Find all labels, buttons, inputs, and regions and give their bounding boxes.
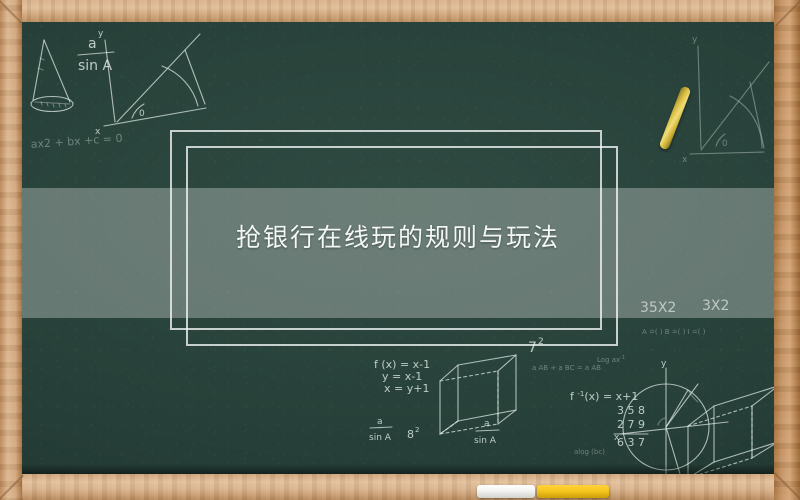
doodle-function-lines-bottom-left: f (x) = x-1 y = x-1 x = y+1 <box>374 358 430 395</box>
fraction-numerator-a: a <box>88 36 97 52</box>
doodle-matrix-smudge: A =( ) B =( ) I =( ) <box>642 328 706 336</box>
angle-label-zero-top-left: 0 <box>139 109 145 119</box>
page-title: 抢银行在线玩的规则与玩法 <box>22 218 774 254</box>
doodle-digit-grid: 3 5 8 2 7 9 6 3 7 <box>614 404 648 449</box>
log-label: Log ax-1 <box>597 355 625 364</box>
doodle-quadratic-equation: ax2 + bx +c = 0 <box>30 132 123 151</box>
fn-line-1: f (x) = x-1 <box>374 358 430 371</box>
axis-label-x-top-left: x <box>95 127 101 137</box>
circle-axis-x-label: x <box>614 433 620 443</box>
fraction2-denominator-sin-a: sin A <box>369 433 392 443</box>
axis-label-x-right-upper: x <box>682 155 688 165</box>
fn-line-2: y = x-1 <box>382 370 422 383</box>
fraction3-numerator-a: a <box>484 419 490 429</box>
doodle-cone-top-left <box>31 40 73 112</box>
fn-line-3: x = y+1 <box>384 382 429 395</box>
chalkboard-title-card: a sin A ax2 + bx +c = 0 y x 0 <box>0 0 800 500</box>
digits-row-2: 2 7 9 <box>617 418 645 431</box>
chalkboard-surface: a sin A ax2 + bx +c = 0 y x 0 <box>22 22 774 474</box>
frame-rail-right <box>774 0 800 500</box>
chalk-stick-yellow-top <box>659 85 692 150</box>
axis-label-y-right-upper: y <box>692 35 698 45</box>
inverse-fn-label: f -1(x) = x+1 <box>570 390 638 403</box>
power-exponent-two-a: 2 <box>415 426 419 434</box>
doodle-angle-axes-top-left: y x 0 <box>95 29 206 137</box>
chalk-stick-yellow-shelf <box>537 485 609 498</box>
doodle-fraction-sin-a-cube: a sin A <box>474 419 499 446</box>
doodle-power-eight-squared: 8 2 <box>407 426 419 441</box>
board-bottom-shadow <box>22 464 774 474</box>
fraction-denominator-sin-a: sin A <box>78 58 113 74</box>
doodle-angle-axes-right-upper: y x 0 <box>682 35 769 165</box>
frame-rail-top <box>0 0 800 22</box>
fraction3-denominator-sin-a: sin A <box>474 436 497 446</box>
doodle-fraction-sin-a-top-left: a sin A <box>78 36 114 74</box>
doodle-circle-with-radii: y y x <box>614 321 728 474</box>
doodle-cube-bottom-left <box>440 355 516 434</box>
doodle-fraction-sin-a-bottom-left: a sin A <box>369 417 392 443</box>
digits-row-3: 6 3 7 <box>617 436 645 449</box>
power-base-eight: 8 <box>407 428 414 441</box>
digits-row-1: 3 5 8 <box>617 404 645 417</box>
fraction2-numerator-a: a <box>377 417 383 427</box>
frame-rail-left <box>0 0 22 500</box>
frame-rail-bottom <box>0 474 800 500</box>
doodle-alog-label: alog (bc) <box>574 448 605 456</box>
axis-label-y-top-left: y <box>98 29 104 39</box>
chalk-stick-white-shelf <box>477 485 535 498</box>
doodle-inverse-function: f -1(x) = x+1 <box>570 390 638 403</box>
doodle-cube-bottom-right <box>688 386 774 474</box>
circle-axis-y-label: y <box>661 359 667 369</box>
doodle-smudge-ab-bc: a AB + a BC = a AB <box>532 364 601 372</box>
angle-label-zero-right-upper: 0 <box>722 139 728 149</box>
doodle-log-label: Log ax-1 <box>597 355 625 364</box>
